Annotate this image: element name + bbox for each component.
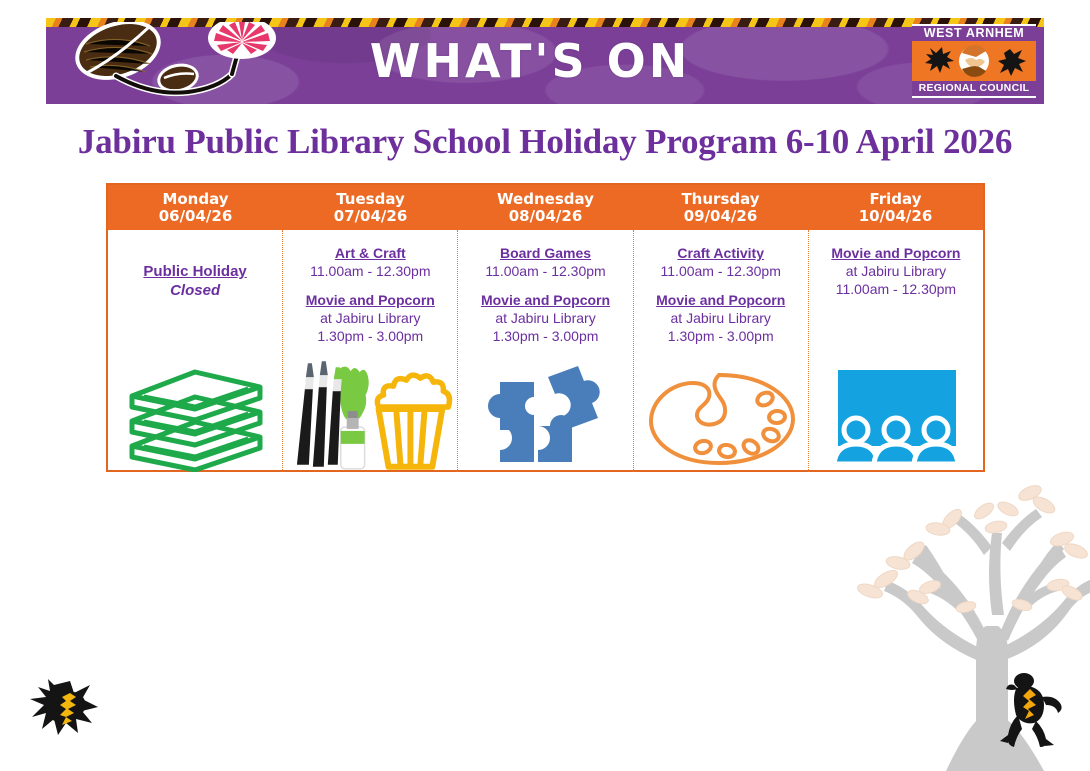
- header-day-date: 10/04/26: [859, 208, 933, 225]
- paint-brush-icon: [328, 367, 342, 465]
- header-day-name: Monday: [162, 191, 228, 208]
- popcorn-icon: [378, 375, 450, 467]
- logo-turtle-icon: [925, 47, 954, 73]
- header-day-name: Wednesday: [497, 191, 594, 208]
- activity-movie-and-popcorn: Movie and Popcorn at Jabiru Library 1.30…: [283, 291, 457, 345]
- activity-line: 11.00am - 12.30pm: [809, 280, 983, 298]
- header-cell-monday: Monday 06/04/26: [108, 185, 283, 230]
- monday-icon-area: [108, 354, 282, 472]
- activity-movie-and-popcorn: Movie and Popcorn at Jabiru Library 1.30…: [458, 291, 632, 345]
- activity-line: Closed: [108, 281, 282, 300]
- tuesday-icon-area: [283, 354, 457, 472]
- activity-line: 11.00am - 12.30pm: [634, 262, 808, 280]
- books-stack-icon: [120, 360, 270, 472]
- tuesday-activities: Art & Craft 11.00am - 12.30pm Movie and …: [283, 230, 457, 356]
- page-title: Jabiru Public Library School Holiday Pro…: [0, 122, 1090, 162]
- activity-title: Movie and Popcorn: [283, 291, 457, 309]
- header-cell-wednesday: Wednesday 08/04/26: [458, 185, 633, 230]
- logo-emblem-band: [912, 41, 1036, 81]
- activity-title: Public Holiday: [108, 262, 282, 281]
- thursday-icon-area: [634, 354, 808, 472]
- header-day-date: 07/04/26: [334, 208, 408, 225]
- paint-brush-icon: [297, 363, 314, 465]
- activity-line: at Jabiru Library: [809, 262, 983, 280]
- header-day-name: Thursday: [681, 191, 759, 208]
- activity-title: Movie and Popcorn: [458, 291, 632, 309]
- header-cell-thursday: Thursday 09/04/26: [633, 185, 808, 230]
- activity-public-holiday: Public Holiday Closed: [108, 262, 282, 300]
- activity-title: Movie and Popcorn: [809, 244, 983, 262]
- activity-board-games: Board Games 11.00am - 12.30pm: [458, 244, 632, 280]
- header-day-date: 06/04/26: [159, 208, 233, 225]
- activity-line: 1.30pm - 3.00pm: [458, 327, 632, 345]
- thursday-activities: Craft Activity 11.00am - 12.30pm Movie a…: [634, 230, 808, 356]
- logo-dancer-icon: [998, 49, 1026, 76]
- wednesday-icon-area: [458, 354, 632, 472]
- paint-brushes-and-popcorn-icon: [283, 357, 457, 472]
- logo-emblem-icons: [918, 43, 1030, 79]
- header-cell-tuesday: Tuesday 07/04/26: [283, 185, 458, 230]
- turtle-artwork: [24, 677, 114, 747]
- day-cell-monday: Public Holiday Closed: [108, 230, 283, 472]
- activity-title: Craft Activity: [634, 244, 808, 262]
- logo-handshake-icon: [959, 45, 989, 77]
- activity-craft-activity: Craft Activity 11.00am - 12.30pm: [634, 244, 808, 280]
- header-day-name: Tuesday: [336, 191, 405, 208]
- logo-top-text: WEST ARNHEM: [912, 26, 1036, 41]
- activity-title: Art & Craft: [283, 244, 457, 262]
- monday-activities: Public Holiday Closed: [108, 230, 282, 311]
- activity-line: at Jabiru Library: [283, 309, 457, 327]
- west-arnhem-regional-council-logo: WEST ARNHEM REGIONAL COUNCIL: [912, 24, 1036, 98]
- wednesday-activities: Board Games 11.00am - 12.30pm Movie and …: [458, 230, 632, 356]
- header-day-date: 09/04/26: [684, 208, 758, 225]
- paint-palette-icon: [641, 367, 801, 472]
- activity-line: at Jabiru Library: [458, 309, 632, 327]
- jigsaw-puzzle-icon: [486, 362, 606, 472]
- activity-title: Movie and Popcorn: [634, 291, 808, 309]
- activity-line: 11.00am - 12.30pm: [283, 262, 457, 280]
- activity-line: 11.00am - 12.30pm: [458, 262, 632, 280]
- day-cell-wednesday: Board Games 11.00am - 12.30pm Movie and …: [458, 230, 633, 472]
- friday-activities: Movie and Popcorn at Jabiru Library 11.0…: [809, 230, 983, 309]
- header-day-date: 08/04/26: [509, 208, 583, 225]
- activity-line: at Jabiru Library: [634, 309, 808, 327]
- activity-movie-and-popcorn: Movie and Popcorn at Jabiru Library 1.30…: [634, 291, 808, 345]
- dancing-figure-artwork: [998, 671, 1070, 749]
- logo-bottom-text: REGIONAL COUNCIL: [912, 81, 1036, 96]
- schedule-header-row: Monday 06/04/26 Tuesday 07/04/26 Wednesd…: [108, 185, 983, 230]
- activity-line: 1.30pm - 3.00pm: [634, 327, 808, 345]
- header-cell-friday: Friday 10/04/26: [808, 185, 983, 230]
- activity-movie-and-popcorn: Movie and Popcorn at Jabiru Library 11.0…: [809, 244, 983, 298]
- paint-brush-icon: [313, 361, 328, 467]
- whats-on-banner: WHAT'S ON WEST ARNHEM REGIONAL COUNCIL: [46, 18, 1044, 104]
- activity-art-and-craft: Art & Craft 11.00am - 12.30pm: [283, 244, 457, 280]
- activity-title: Board Games: [458, 244, 632, 262]
- day-cell-tuesday: Art & Craft 11.00am - 12.30pm Movie and …: [283, 230, 458, 472]
- paint-tube-icon: [341, 411, 365, 469]
- activity-line: 1.30pm - 3.00pm: [283, 327, 457, 345]
- header-day-name: Friday: [869, 191, 921, 208]
- banner-title: WHAT'S ON: [46, 34, 1044, 88]
- day-cell-thursday: Craft Activity 11.00am - 12.30pm Movie a…: [634, 230, 809, 472]
